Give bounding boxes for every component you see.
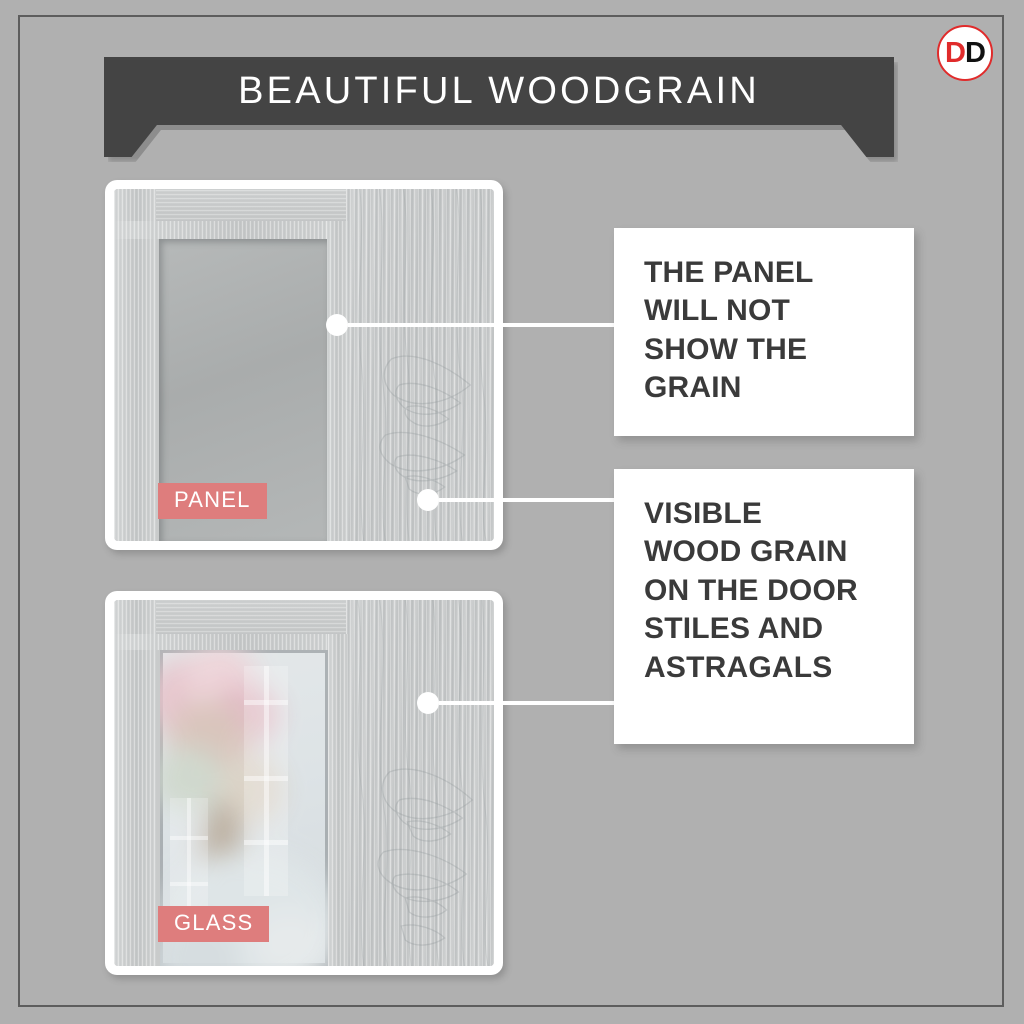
glass-reflection-mullion-v2 <box>187 798 191 918</box>
door-stile-grain <box>346 189 494 541</box>
door-moulding-left <box>114 189 156 541</box>
callout-line-panel <box>348 323 618 327</box>
callout-dot-grain-lower <box>417 692 439 714</box>
callout-dot-panel <box>326 314 348 336</box>
title-banner: BEAUTIFUL WOODGRAIN <box>104 57 894 157</box>
door-moulding-top <box>114 221 346 239</box>
callout-dot-grain-upper <box>417 489 439 511</box>
callout-panel-line-4: GRAIN <box>644 369 884 407</box>
callout-line-grain-upper <box>439 498 618 502</box>
callout-grain-line-4: STILES AND <box>644 610 884 648</box>
callout-grain-line-5: ASTRAGALS <box>644 649 884 687</box>
glass-reflection-mullion-h4 <box>170 836 208 840</box>
callout-line-grain-lower <box>439 701 618 705</box>
woodgrain-pattern-icon <box>346 600 494 966</box>
glass-reflection-mullion-h5 <box>170 882 208 886</box>
glass-reflection-mullion-h3 <box>244 840 288 845</box>
infographic-canvas: BEAUTIFUL WOODGRAIN DD <box>0 0 1024 1024</box>
door-stile-grain-glass <box>346 600 494 966</box>
label-glass: GLASS <box>158 906 269 942</box>
dd-logo: DD <box>937 25 993 81</box>
door-moulding-right <box>326 221 348 541</box>
callout-grain: VISIBLE WOOD GRAIN ON THE DOOR STILES AN… <box>614 469 914 744</box>
callout-panel-line-2: WILL NOT <box>644 292 884 330</box>
logo-letter-first: D <box>945 39 965 68</box>
callout-grain-line-3: ON THE DOOR <box>644 572 884 610</box>
woodgrain-pattern-icon <box>346 189 494 541</box>
page-title: BEAUTIFUL WOODGRAIN <box>104 57 894 125</box>
label-panel: PANEL <box>158 483 267 519</box>
door-moulding-right-glass <box>328 634 348 966</box>
callout-panel-line-3: SHOW THE <box>644 331 884 369</box>
glass-reflection-mullion-h2 <box>244 776 288 781</box>
callout-panel-line-1: THE PANEL <box>644 254 884 292</box>
logo-letter-second: D <box>965 39 985 68</box>
callout-grain-line-2: WOOD GRAIN <box>644 533 884 571</box>
callout-panel: THE PANEL WILL NOT SHOW THE GRAIN <box>614 228 914 436</box>
door-moulding-top-glass <box>114 634 346 650</box>
callout-grain-line-1: VISIBLE <box>644 495 884 533</box>
door-moulding-left-glass <box>114 600 156 966</box>
glass-reflection-mullion-h1 <box>244 700 288 705</box>
